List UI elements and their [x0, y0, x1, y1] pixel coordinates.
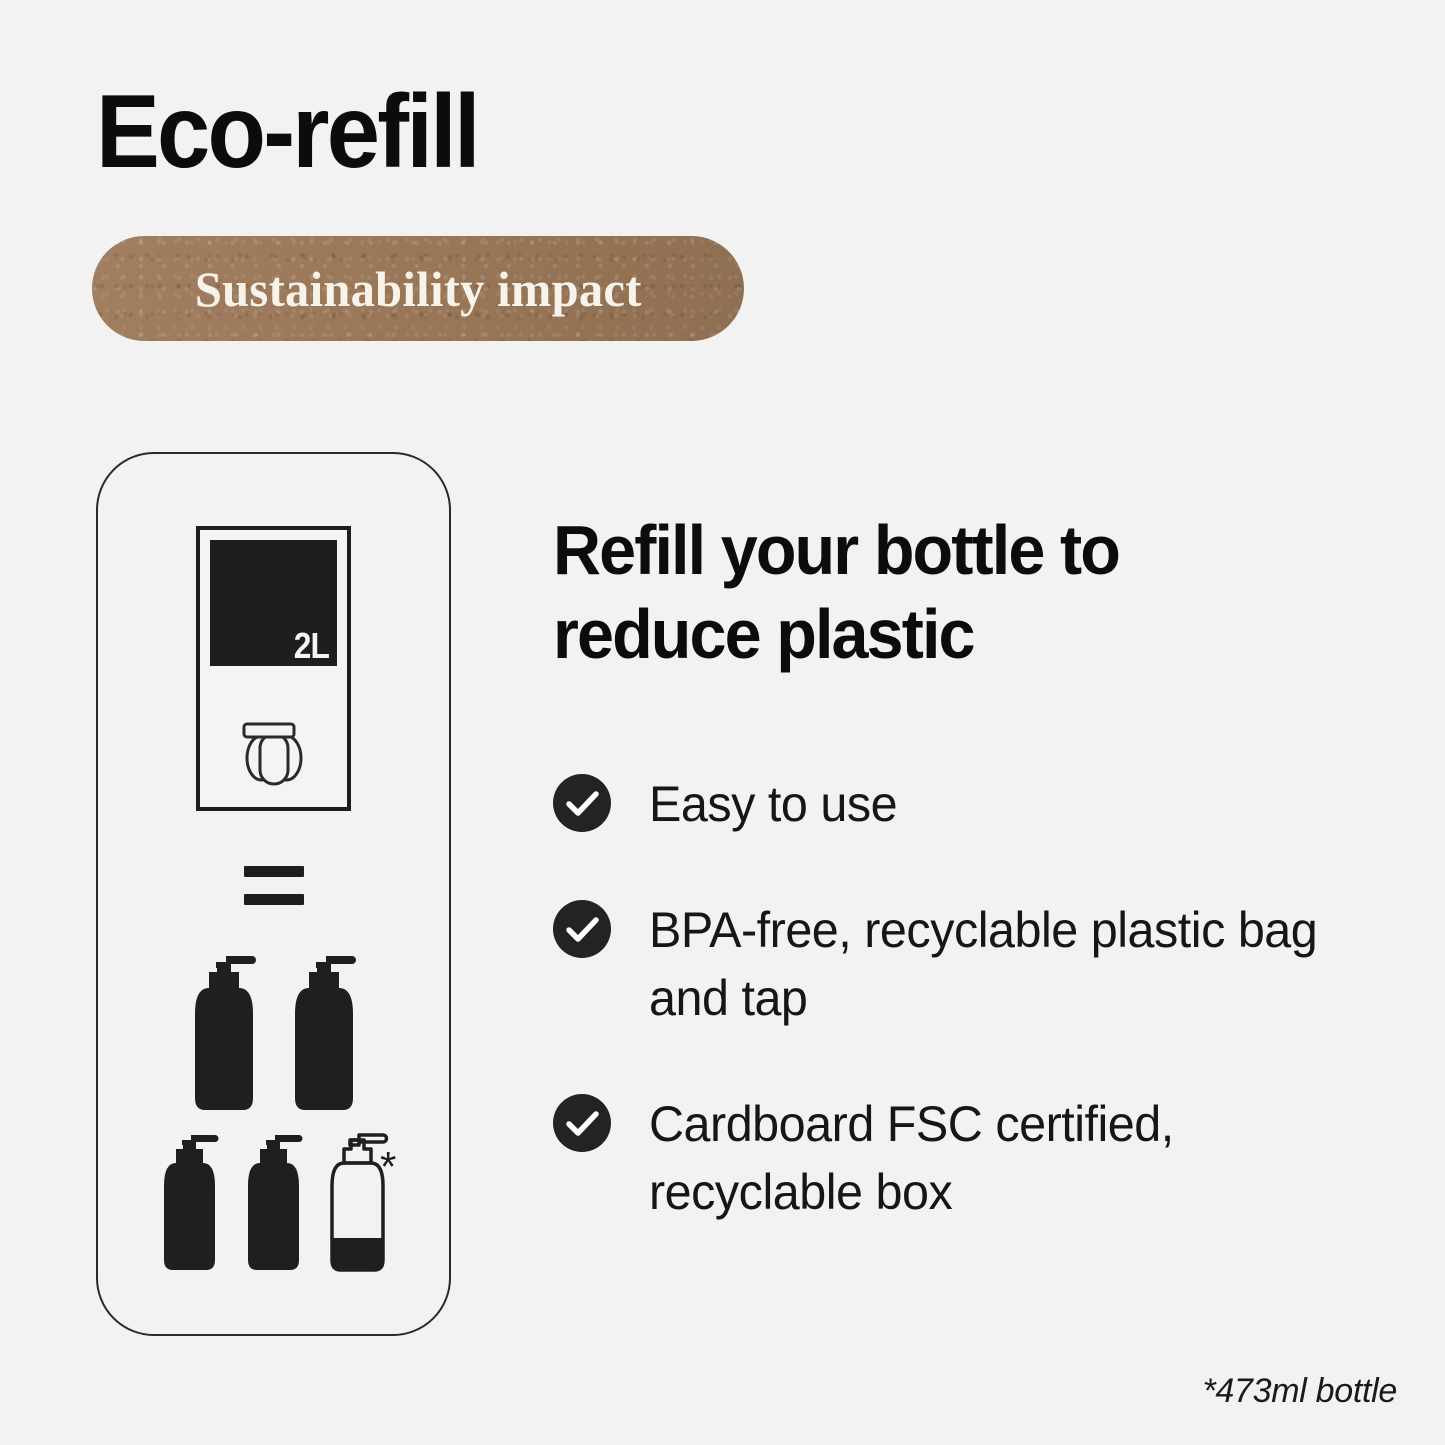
three-bottle-row: *	[98, 1124, 449, 1281]
pump-bottle-filled	[285, 944, 363, 1121]
feature-list: Easy to use BPA-free, recyclable plastic…	[553, 770, 1383, 1226]
sustainability-impact-badge: Sustainability impact	[92, 236, 744, 341]
equals-bar-top	[244, 866, 304, 877]
list-item: Easy to use	[553, 770, 1383, 838]
badge-label: Sustainability impact	[195, 260, 642, 318]
two-bottle-row	[98, 944, 449, 1121]
pump-bottle-filled	[185, 944, 263, 1121]
feature-label: BPA-free, recyclable plastic bag and tap	[649, 896, 1361, 1032]
main-headline: Refill your bottle to reduce plastic	[553, 508, 1275, 676]
check-circle-icon	[553, 900, 611, 958]
asterisk-marker: *	[380, 1146, 396, 1188]
eco-refill-illustration-panel: 2L	[96, 452, 451, 1336]
feature-label: Easy to use	[649, 770, 897, 838]
tap-icon	[231, 708, 317, 794]
carton-volume-label: 2L	[294, 628, 329, 664]
check-circle-icon	[553, 774, 611, 832]
pump-bottle-filled	[239, 1124, 309, 1281]
headline-line-2: reduce plastic	[553, 592, 1275, 676]
refill-carton-graphic: 2L	[196, 526, 351, 811]
page-root: Eco-refill Sustainability impact 2L	[0, 0, 1445, 1445]
footnote: *473ml bottle	[1202, 1372, 1397, 1411]
pump-bottle-filled	[155, 1124, 225, 1281]
headline-line-1: Refill your bottle to	[553, 508, 1275, 592]
page-title: Eco-refill	[96, 78, 478, 186]
check-circle-icon	[553, 1094, 611, 1152]
feature-label: Cardboard FSC certified, recyclable box	[649, 1090, 1361, 1226]
carton-window: 2L	[210, 540, 337, 666]
equals-bar-bottom	[244, 894, 304, 905]
list-item: Cardboard FSC certified, recyclable box	[553, 1090, 1383, 1226]
list-item: BPA-free, recyclable plastic bag and tap	[553, 896, 1383, 1032]
equals-symbol	[244, 866, 304, 905]
